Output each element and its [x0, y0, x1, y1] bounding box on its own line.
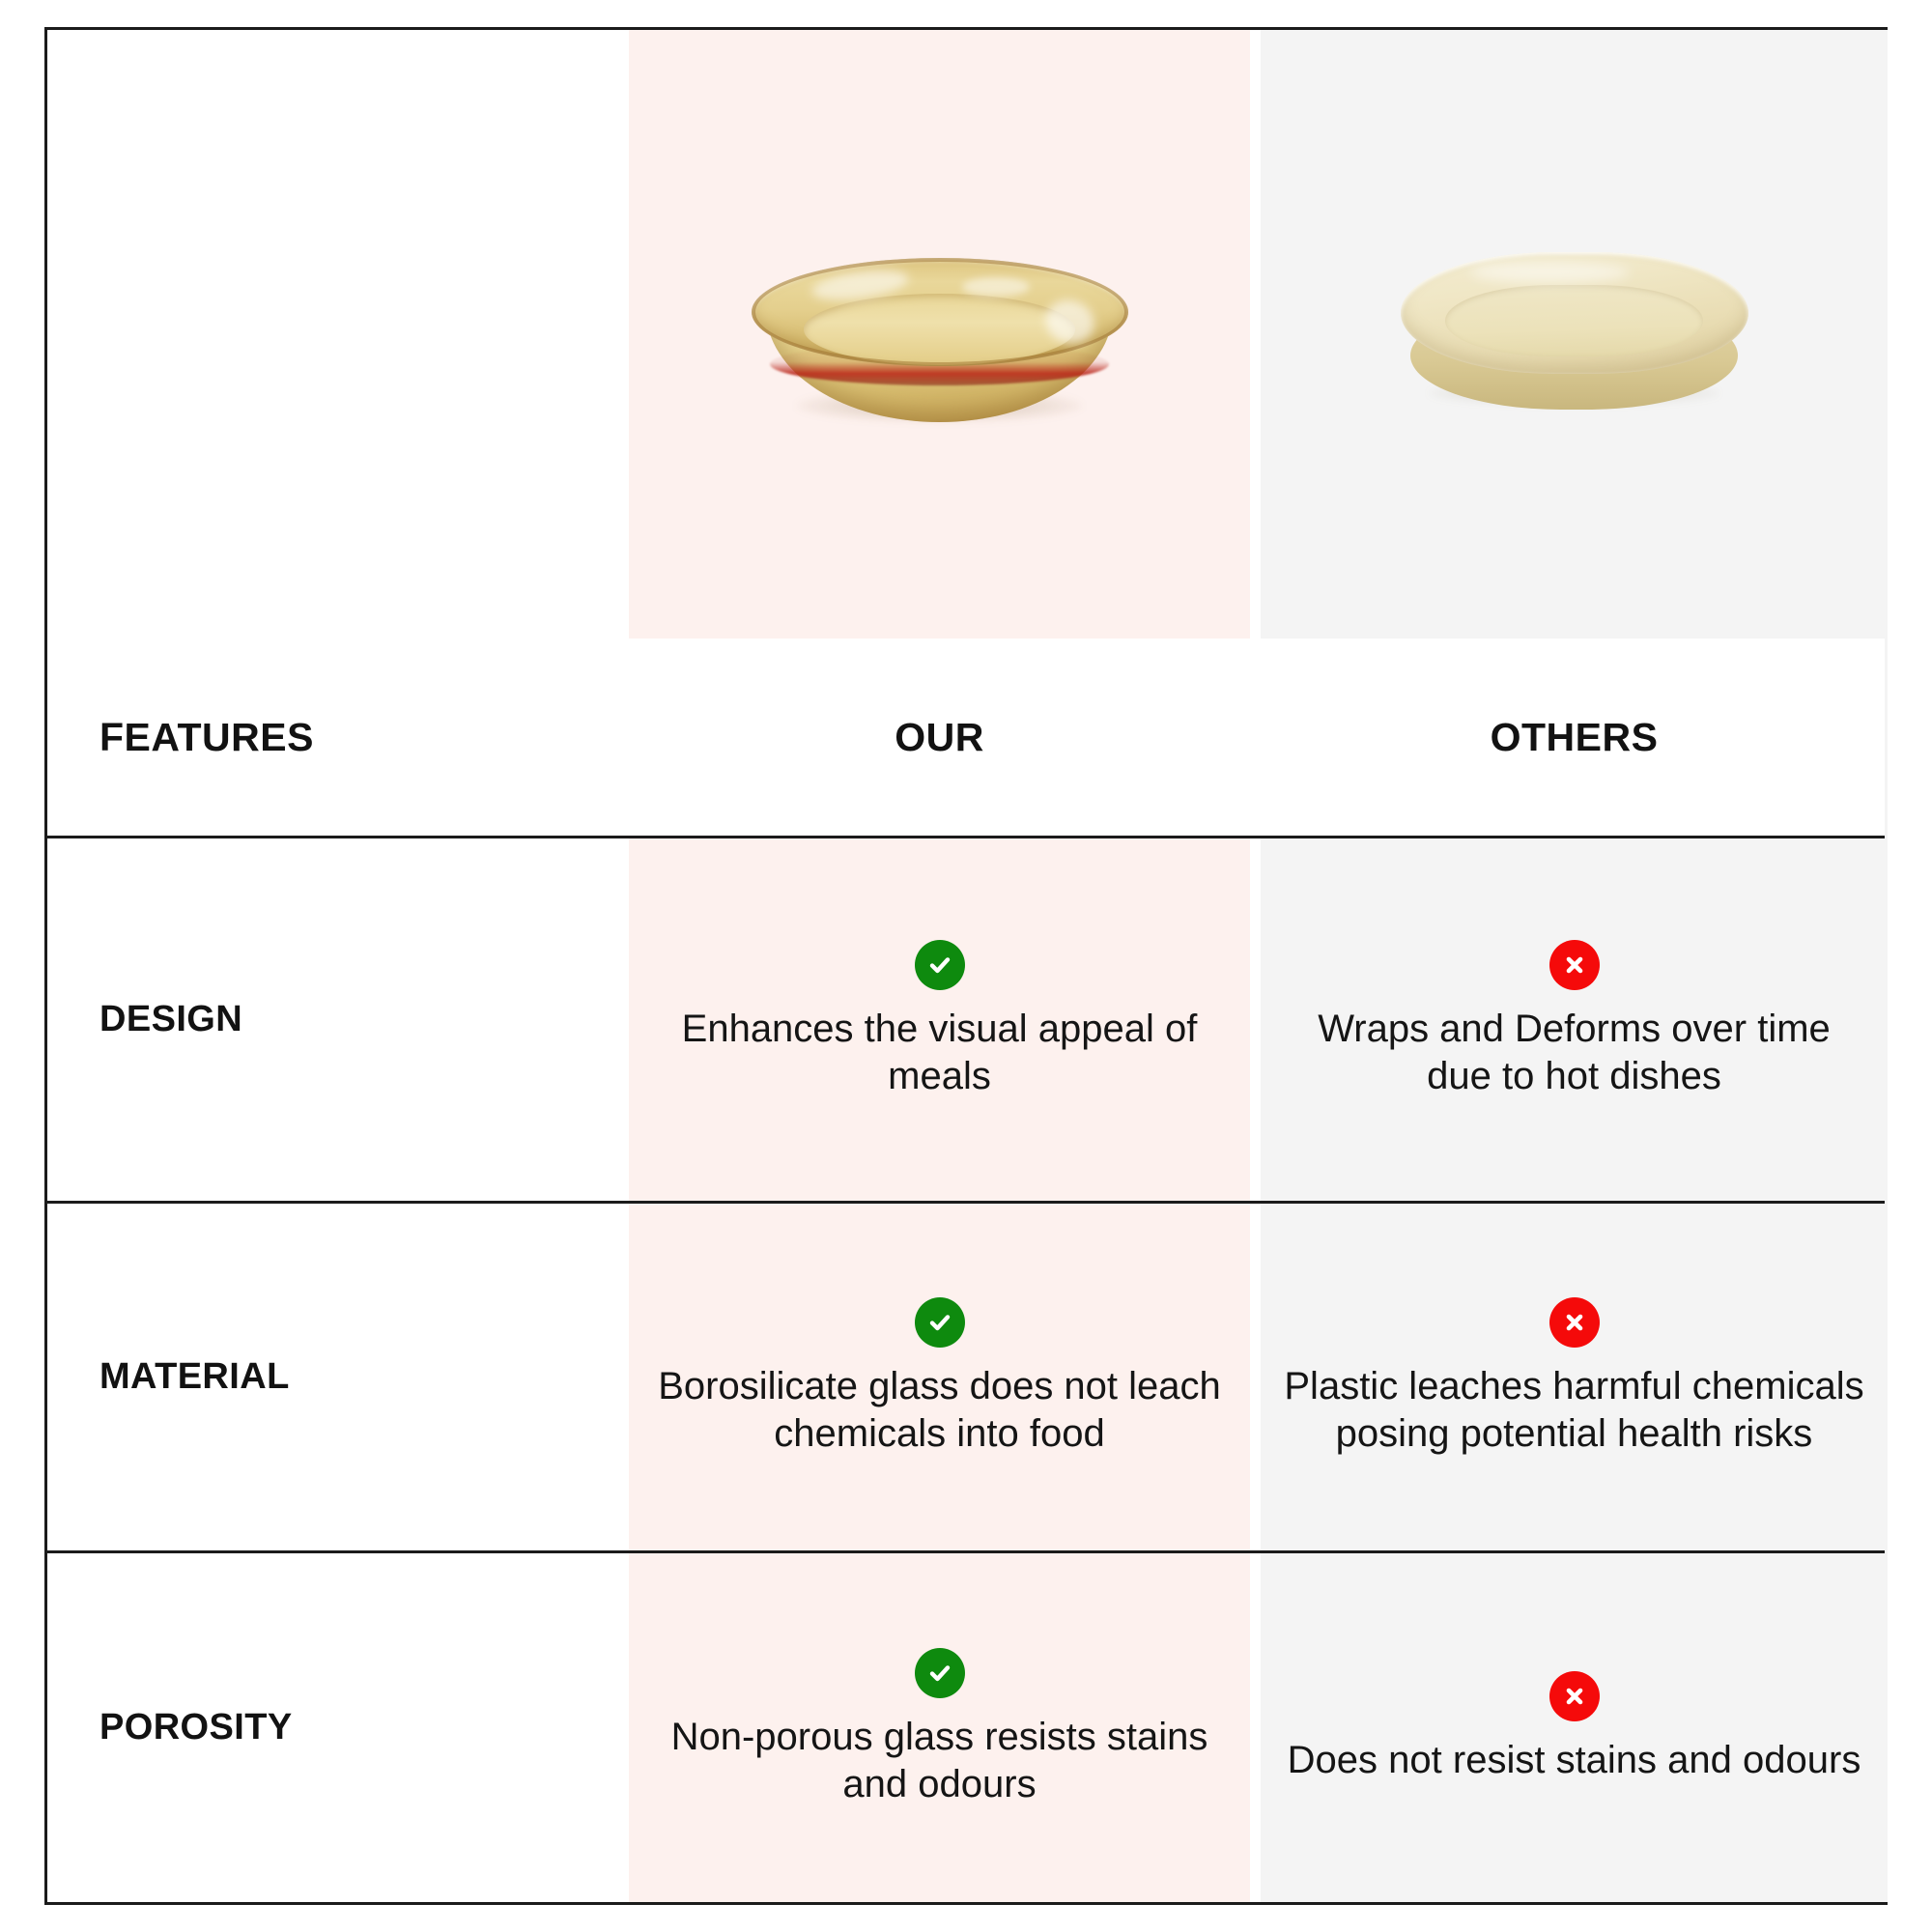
row-feature-name-cell: MATERIAL — [47, 1204, 629, 1550]
column-header-others: OTHERS — [1261, 639, 1888, 836]
table-row: DESIGN Enhances the visual appeal of mea… — [47, 838, 1885, 1201]
row-others-text: Plastic leaches harmful chemicals posing… — [1282, 1363, 1866, 1457]
row-our-text: Enhances the visual appeal of meals — [650, 1006, 1229, 1099]
row-our-text: Borosilicate glass does not leach chemic… — [650, 1363, 1229, 1457]
table-row: POROSITY Non-porous glass resists stains… — [47, 1553, 1885, 1902]
comparison-table-page: FEATURES OUR OTHERS DESIGN Enhances t — [0, 0, 1932, 1932]
product-image-row — [47, 30, 1885, 639]
row-our-cell: Borosilicate glass does not leach chemic… — [629, 1204, 1250, 1550]
comparison-table: FEATURES OUR OTHERS DESIGN Enhances t — [44, 27, 1888, 1905]
amber-glass-bowl-icon — [727, 189, 1152, 479]
row-our-cell: Enhances the visual appeal of meals — [629, 838, 1250, 1201]
row-others-cell: Plastic leaches harmful chemicals posing… — [1261, 1204, 1888, 1550]
column-header-others-label: OTHERS — [1491, 715, 1659, 760]
cross-circle-icon — [1549, 1297, 1600, 1348]
feature-name-design: DESIGN — [99, 999, 242, 1040]
row-our-text: Non-porous glass resists stains and odou… — [650, 1714, 1229, 1807]
check-circle-icon — [915, 1297, 965, 1348]
row-others-cell: Does not resist stains and odours — [1261, 1553, 1888, 1902]
features-image-cell — [47, 30, 629, 639]
row-others-text: Does not resist stains and odours — [1288, 1737, 1861, 1783]
row-our-cell: Non-porous glass resists stains and odou… — [629, 1553, 1250, 1902]
row-feature-name-cell: DESIGN — [47, 838, 629, 1201]
row-others-cell: Wraps and Deforms over time due to hot d… — [1261, 838, 1888, 1201]
column-header-features: FEATURES — [47, 639, 629, 836]
feature-name-porosity: POROSITY — [99, 1707, 293, 1748]
row-others-text: Wraps and Deforms over time due to hot d… — [1282, 1006, 1866, 1099]
column-header-our: OUR — [629, 639, 1250, 836]
column-header-features-label: FEATURES — [99, 715, 314, 760]
our-product-image-cell — [629, 30, 1250, 639]
cross-circle-icon — [1549, 1671, 1600, 1721]
feature-name-material: MATERIAL — [99, 1356, 290, 1398]
row-feature-name-cell: POROSITY — [47, 1553, 629, 1902]
cross-circle-icon — [1549, 940, 1600, 990]
cream-plastic-plate-icon — [1362, 189, 1787, 479]
check-circle-icon — [915, 1648, 965, 1698]
column-header-our-label: OUR — [895, 715, 984, 760]
column-header-row: FEATURES OUR OTHERS — [47, 639, 1885, 836]
table-row: MATERIAL Borosilicate glass does not lea… — [47, 1204, 1885, 1550]
others-product-image-cell — [1261, 30, 1888, 639]
check-circle-icon — [915, 940, 965, 990]
